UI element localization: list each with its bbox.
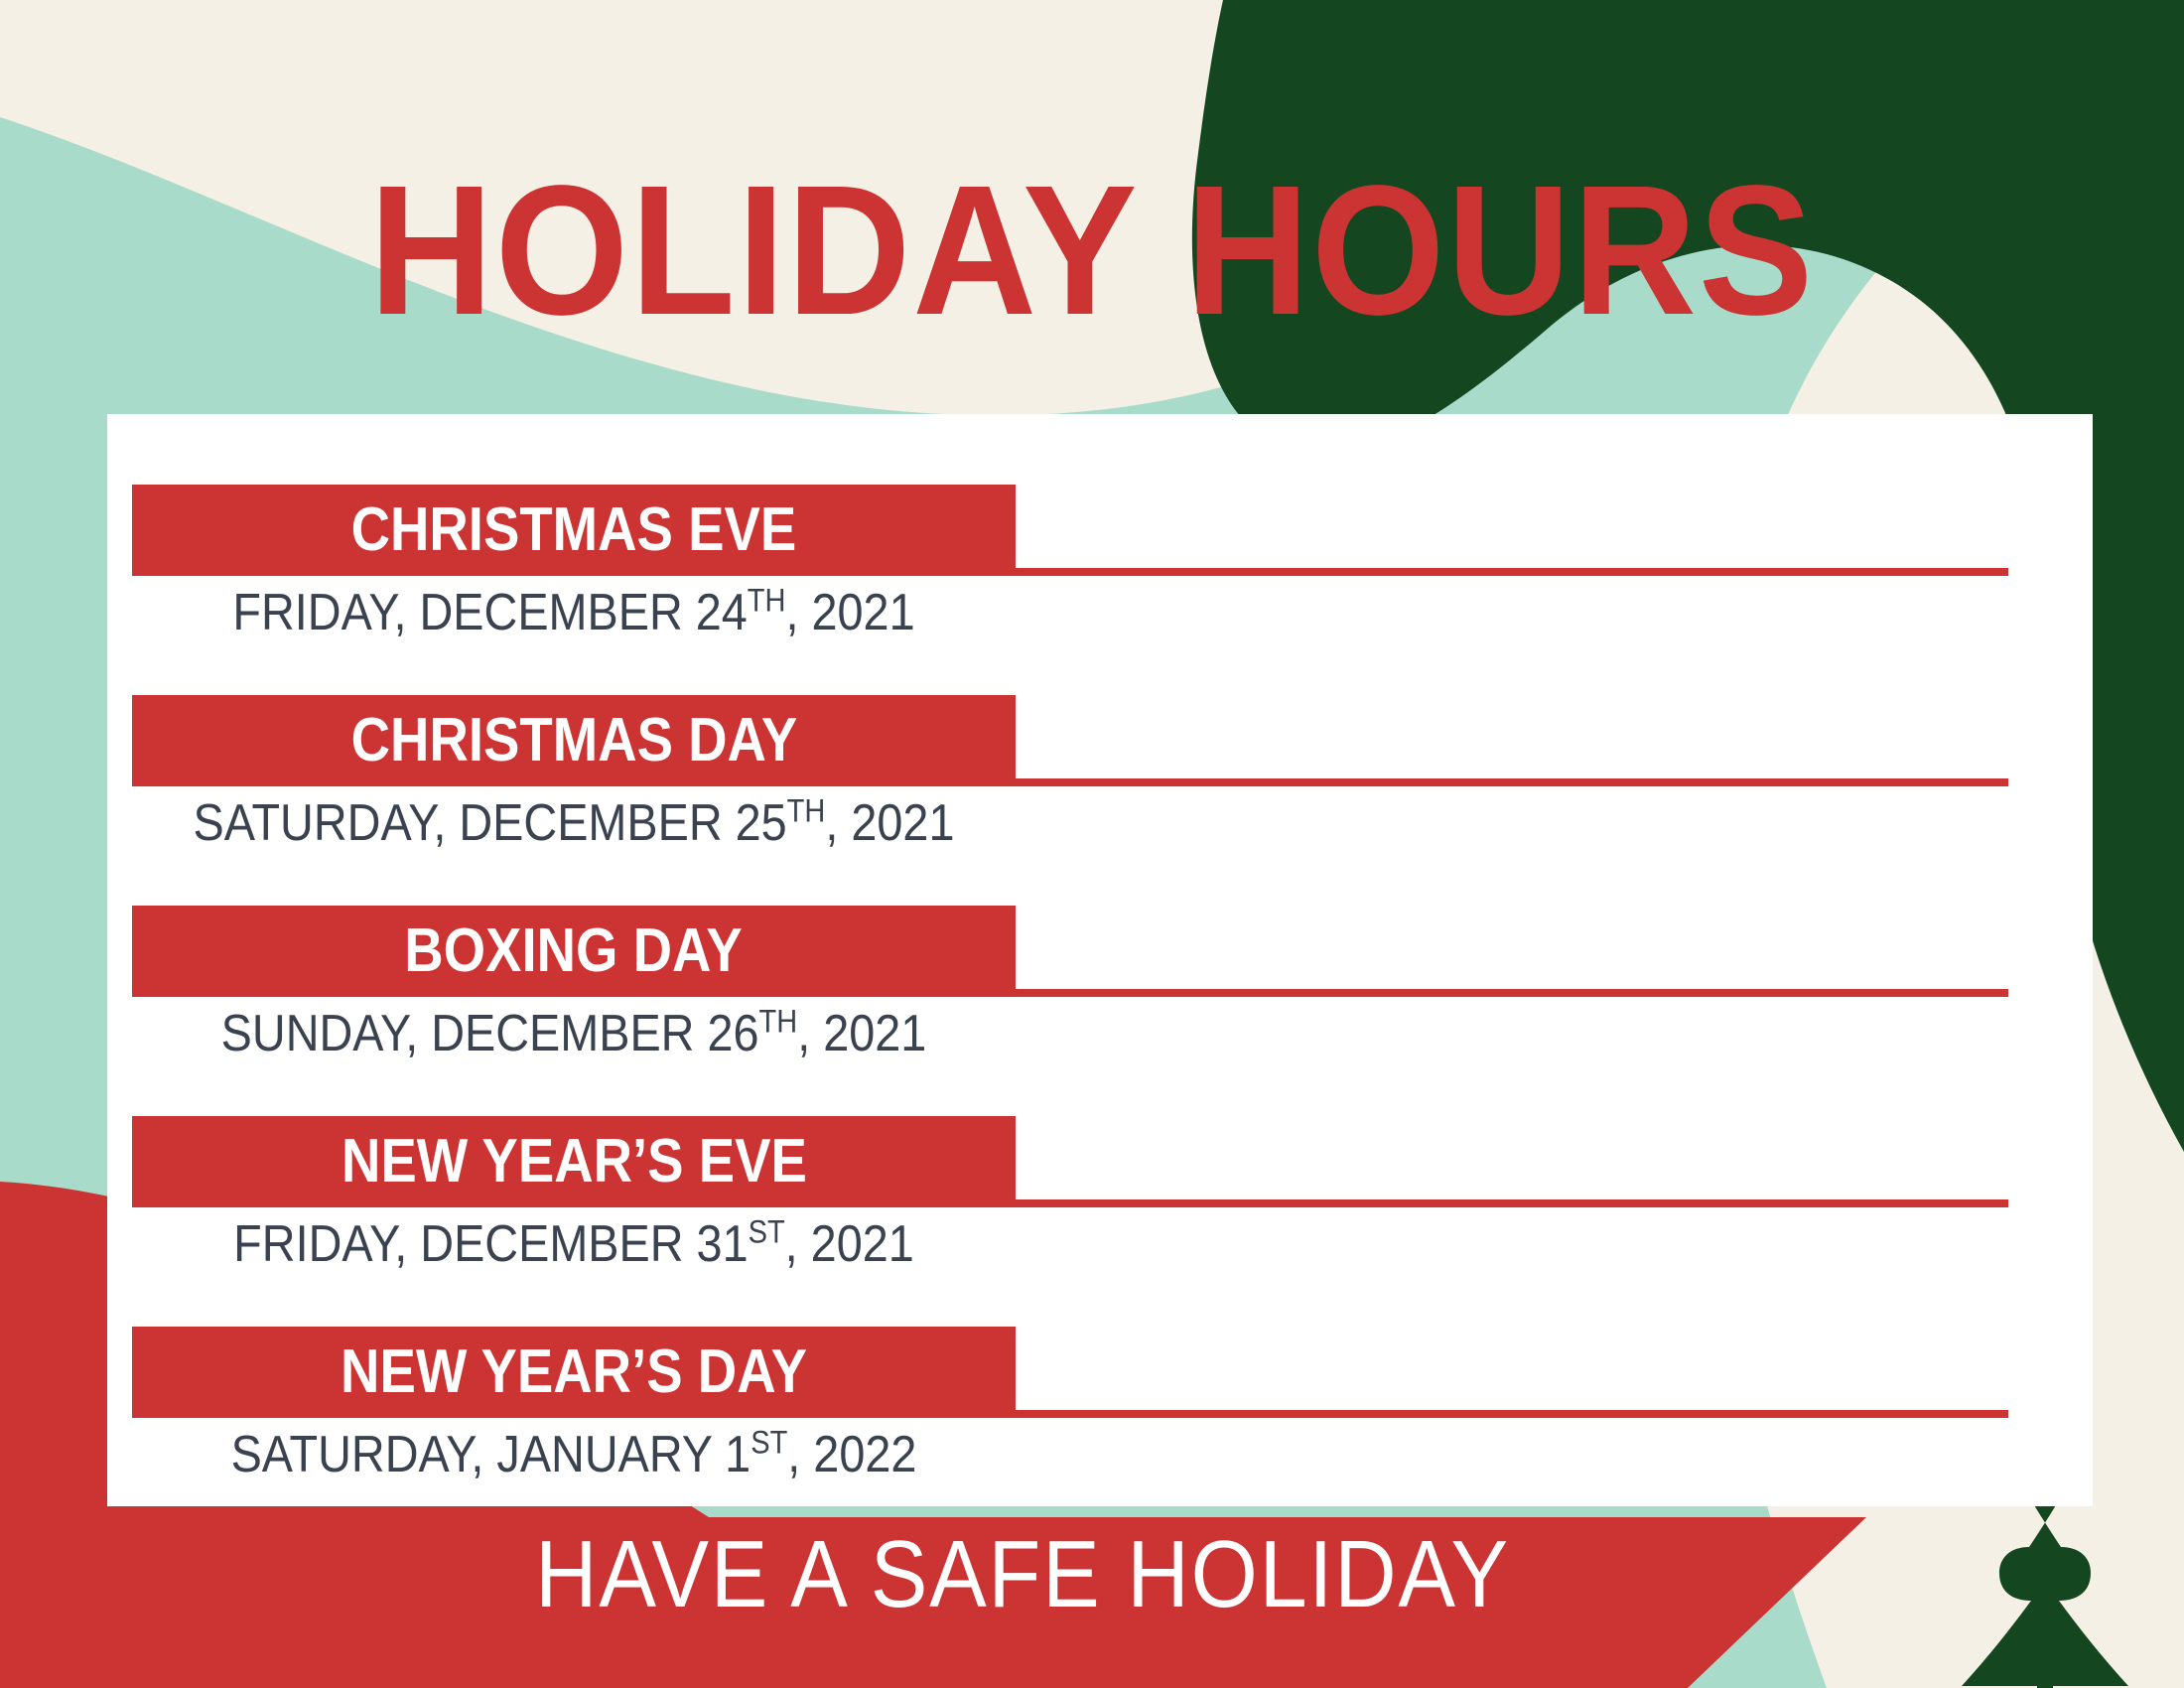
date-year: , 2022: [787, 1426, 916, 1483]
date-ordinal-suffix: ST: [751, 1425, 787, 1461]
holiday-name: NEW YEAR’S DAY: [341, 1341, 807, 1403]
date-main: SATURDAY, JANUARY 1: [231, 1426, 751, 1483]
list-item: CHRISTMAS EVE FRIDAY, DECEMBER 24TH, 202…: [107, 485, 2093, 695]
holiday-banner: CHRISTMAS DAY: [132, 695, 1016, 786]
list-item: BOXING DAY SUNDAY, DECEMBER 26TH, 2021: [107, 906, 2093, 1116]
holiday-banner: CHRISTMAS EVE: [132, 485, 1016, 576]
hours-write-in-line: [1016, 1199, 2008, 1207]
holiday-hours-poster: HOLIDAY HOURS CHRISTMAS EVE FRIDAY, DECE…: [0, 0, 2184, 1688]
hours-card: CHRISTMAS EVE FRIDAY, DECEMBER 24TH, 202…: [107, 414, 2093, 1506]
date-main: FRIDAY, DECEMBER 31: [233, 1215, 748, 1273]
holiday-name: CHRISTMAS DAY: [350, 710, 797, 772]
date-ordinal-suffix: TH: [787, 793, 826, 829]
hours-list: CHRISTMAS EVE FRIDAY, DECEMBER 24TH, 202…: [107, 485, 2093, 1531]
holiday-date: SATURDAY, DECEMBER 25TH, 2021: [177, 794, 972, 854]
holiday-name: NEW YEAR’S EVE: [341, 1131, 807, 1193]
date-year: , 2021: [785, 584, 914, 641]
date-main: FRIDAY, DECEMBER 24: [232, 584, 747, 641]
holiday-date: FRIDAY, DECEMBER 31ST, 2021: [177, 1215, 972, 1275]
date-ordinal-suffix: ST: [749, 1214, 785, 1250]
holiday-banner: NEW YEAR’S DAY: [132, 1327, 1016, 1418]
hours-write-in-line: [1016, 989, 2008, 997]
date-year: , 2021: [785, 1215, 914, 1273]
date-main: SATURDAY, DECEMBER 25: [194, 794, 787, 852]
holiday-name: BOXING DAY: [405, 920, 744, 982]
holiday-banner: NEW YEAR’S EVE: [132, 1116, 1016, 1207]
list-item: NEW YEAR’S EVE FRIDAY, DECEMBER 31ST, 20…: [107, 1116, 2093, 1327]
page-title: HOLIDAY HOURS: [76, 159, 2108, 344]
hours-write-in-line: [1016, 568, 2008, 576]
hours-write-in-line: [1016, 1410, 2008, 1418]
date-ordinal-suffix: TH: [748, 583, 786, 619]
date-year: , 2021: [797, 1005, 926, 1062]
date-main: SUNDAY, DECEMBER 26: [221, 1005, 759, 1062]
holiday-date: FRIDAY, DECEMBER 24TH, 2021: [177, 584, 972, 643]
hours-write-in-line: [1016, 778, 2008, 786]
holiday-date: SUNDAY, DECEMBER 26TH, 2021: [177, 1005, 972, 1064]
date-ordinal-suffix: TH: [759, 1004, 798, 1040]
holiday-banner: BOXING DAY: [132, 906, 1016, 997]
list-item: CHRISTMAS DAY SATURDAY, DECEMBER 25TH, 2…: [107, 695, 2093, 906]
list-item: NEW YEAR’S DAY SATURDAY, JANUARY 1ST, 20…: [107, 1327, 2093, 1531]
date-year: , 2021: [825, 794, 954, 852]
footer-message: HAVE A SAFE HOLIDAY: [102, 1527, 1943, 1622]
holiday-date: SATURDAY, JANUARY 1ST, 2022: [177, 1426, 972, 1485]
holiday-name: CHRISTMAS EVE: [351, 499, 797, 561]
